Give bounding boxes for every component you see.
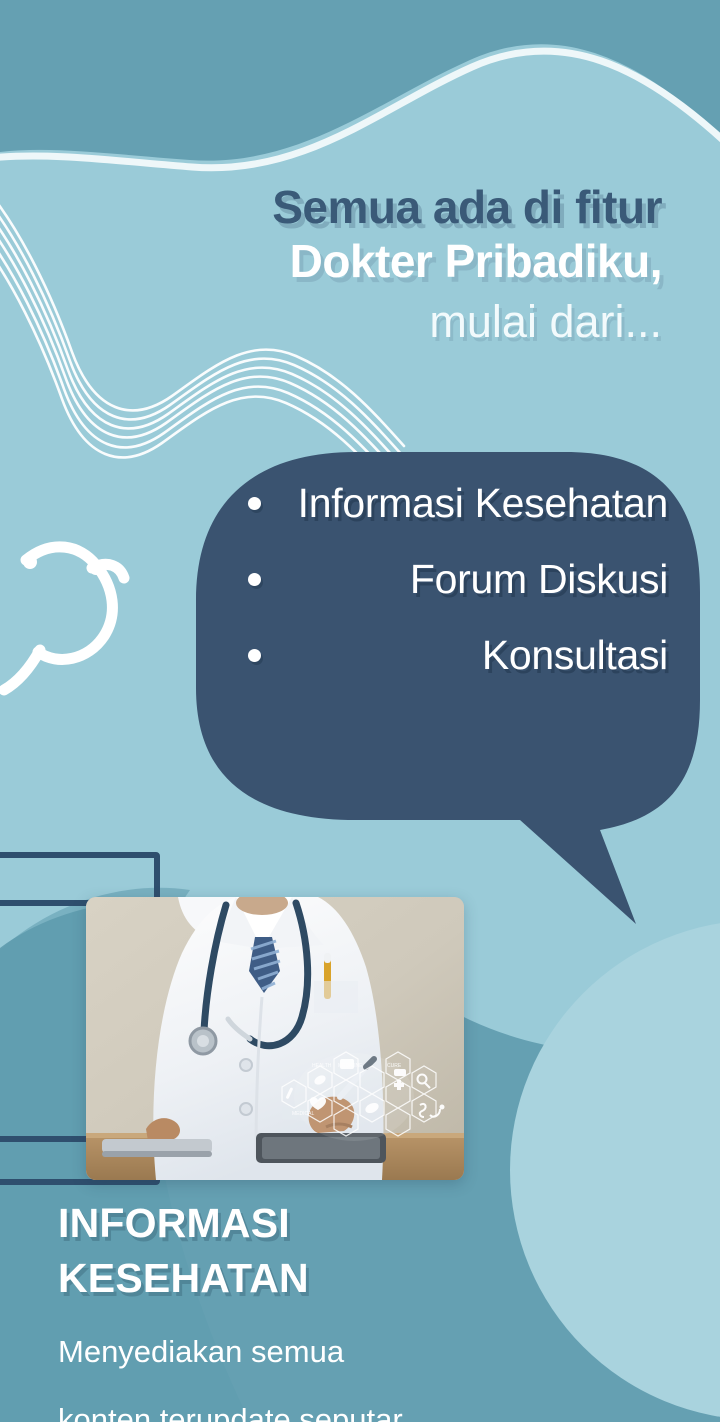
headline-line-2: Dokter Pribadiku, <box>0 232 662 292</box>
section-title-line-2: KESEHATAN <box>58 1251 618 1306</box>
section-body-line-1: Menyediakan semua <box>58 1331 618 1373</box>
headline-line-3: mulai dari... <box>0 292 662 351</box>
list-item-label: Forum Diskusi <box>261 554 668 604</box>
section-body-line-2: konten terupdate seputar <box>58 1399 618 1422</box>
bullet-dot-icon <box>248 497 261 510</box>
headline-block: Semua ada di fitur Dokter Pribadiku, mul… <box>0 183 720 351</box>
doctor-with-tablet-photo: MEDICINE CURE MEDICAL HEALTH <box>86 897 464 1180</box>
list-item: Informasi Kesehatan <box>248 478 668 528</box>
bullet-dot-icon <box>248 573 261 586</box>
section-title-line-1: INFORMASI <box>58 1196 618 1251</box>
list-item-label: Konsultasi <box>261 630 668 680</box>
list-item-label: Informasi Kesehatan <box>261 478 668 528</box>
poster-canvas: Semua ada di fitur Dokter Pribadiku, mul… <box>0 0 720 1422</box>
headline-line-1: Semua ada di fitur <box>0 183 662 232</box>
list-item: Forum Diskusi <box>248 554 668 604</box>
feature-list: Informasi Kesehatan Forum Diskusi Konsul… <box>248 478 668 706</box>
bottom-text-block: INFORMASI KESEHATAN Menyediakan semua ko… <box>58 1196 618 1422</box>
bullet-dot-icon <box>248 649 261 662</box>
list-item: Konsultasi <box>248 630 668 680</box>
